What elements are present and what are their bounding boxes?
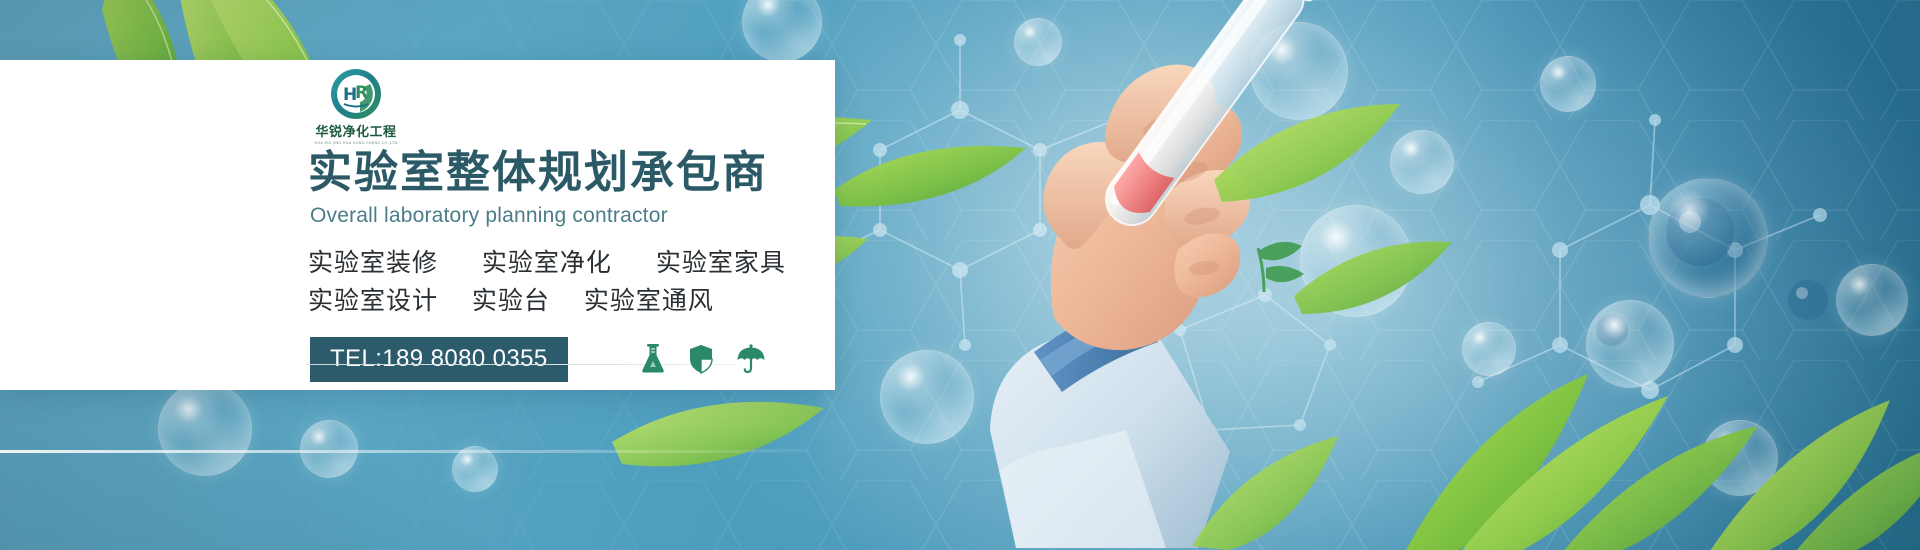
page-subtitle: Overall laboratory planning contractor xyxy=(310,204,828,228)
page-title: 实验室整体规划承包商 xyxy=(308,151,828,195)
telephone-cta-button[interactable]: TEL:189 8080 0355 xyxy=(310,337,568,382)
card-bottom-edge xyxy=(0,450,835,453)
laboratory-banner: H R 华锐净化工程 HUA RUI JING HUA GONG CHENG C… xyxy=(0,0,1920,550)
flask-icon xyxy=(640,344,666,374)
content-card: H R 华锐净化工程 HUA RUI JING HUA GONG CHENG C… xyxy=(0,60,835,390)
svg-text:R: R xyxy=(355,83,368,103)
brand-name-pinyin: HUA RUI JING HUA GONG CHENG CO.,LTD xyxy=(315,141,398,145)
brand-name-cn: 华锐净化工程 xyxy=(315,121,396,140)
service-item[interactable]: 实验室净化 xyxy=(482,248,612,277)
service-item[interactable]: 实验室设计 xyxy=(308,286,438,315)
service-item[interactable]: 实验台 xyxy=(472,286,550,315)
service-item[interactable]: 实验室装修 xyxy=(308,248,438,277)
card-content: H R 华锐净化工程 HUA RUI JING HUA GONG CHENG C… xyxy=(308,68,828,382)
feature-icon-row xyxy=(640,344,766,374)
umbrella-icon xyxy=(736,344,766,374)
service-item[interactable]: 实验室家具 xyxy=(656,248,786,277)
shield-icon xyxy=(688,344,714,374)
service-item[interactable]: 实验室通风 xyxy=(584,286,714,315)
services-row-2: 实验室设计 实验台 实验室通风 xyxy=(308,282,828,320)
brand-logo[interactable]: H R 华锐净化工程 HUA RUI JING HUA GONG CHENG C… xyxy=(310,68,402,145)
hr-monogram-circle-logo-icon: H R xyxy=(330,68,382,120)
services-list: 实验室装修 实验室净化 实验室家具 实验室设计 实验台 实验室通风 xyxy=(308,244,828,319)
services-row-1: 实验室装修 实验室净化 实验室家具 xyxy=(308,244,828,282)
